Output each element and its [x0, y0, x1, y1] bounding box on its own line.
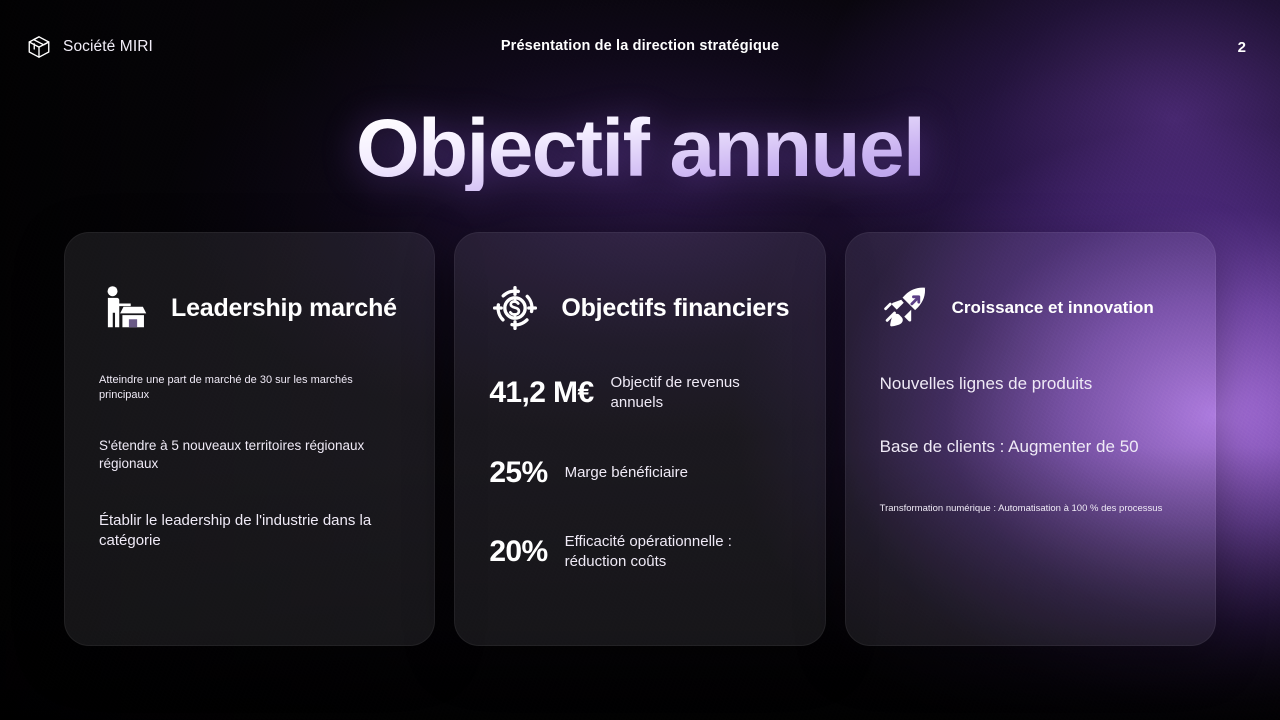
card-header: Croissance et innovation [880, 275, 1181, 341]
card-header: Leadership marché [99, 275, 400, 341]
list-item: Atteindre une part de marché de 30 sur l… [99, 373, 400, 403]
page-title: Objectif annuel [356, 107, 924, 191]
list-item: Nouvelles lignes de produits [880, 373, 1181, 396]
page-number: 2 [1238, 39, 1254, 56]
stat-item: 41,2 M€ Objectif de revenus annuels [489, 373, 790, 412]
stat-value: 20% [489, 535, 547, 569]
stat-item: 20% Efficacité opérationnelle : réductio… [489, 532, 790, 571]
deck-title: Présentation de la direction stratégique [0, 38, 1280, 54]
list-item-label: Atteindre une part de marché de 30 sur l… [99, 373, 400, 403]
stat-label: Marge bénéficiaire [565, 463, 688, 483]
card-header: Objectifs financiers [489, 275, 790, 341]
card-body: 41,2 M€ Objectif de revenus annuels 25% … [489, 373, 790, 615]
market-vendor-icon [99, 282, 151, 334]
card-title: Leadership marché [171, 294, 397, 322]
card-title: Objectifs financiers [561, 294, 789, 322]
list-item: Base de clients : Augmenter de 50 [880, 436, 1181, 459]
card-objectifs-financiers: Objectifs financiers 41,2 M€ Objectif de… [454, 232, 825, 646]
card-body: Atteindre une part de marché de 30 sur l… [99, 373, 400, 615]
target-dollar-icon [489, 282, 541, 334]
card-croissance-innovation: Croissance et innovation Nouvelles ligne… [845, 232, 1216, 646]
list-item: Transformation numérique : Automatisatio… [880, 503, 1181, 516]
list-item-label: Transformation numérique : Automatisatio… [880, 503, 1163, 516]
list-item: Établir le leadership de l'industrie dan… [99, 511, 400, 552]
slide: Société MIRI Présentation de la directio… [0, 0, 1280, 720]
stat-item: 25% Marge bénéficiaire [489, 456, 790, 490]
stat-label: Efficacité opérationnelle : réduction co… [565, 532, 791, 571]
list-item-label: Établir le leadership de l'industrie dan… [99, 511, 400, 552]
card-title: Croissance et innovation [952, 298, 1154, 317]
list-item-label: Base de clients : Augmenter de 50 [880, 436, 1139, 459]
card-body: Nouvelles lignes de produits Base de cli… [880, 373, 1181, 615]
slide-header: Société MIRI Présentation de la directio… [0, 0, 1280, 94]
rocket-growth-icon [880, 282, 932, 334]
hero: Objectif annuel [0, 107, 1280, 191]
card-leadership-marche: Leadership marché Atteindre une part de … [64, 232, 435, 646]
stat-value: 41,2 M€ [489, 376, 593, 410]
list-item-label: Nouvelles lignes de produits [880, 373, 1093, 396]
list-item-label: S'étendre à 5 nouveaux territoires régio… [99, 437, 400, 473]
cards-row: Leadership marché Atteindre une part de … [64, 232, 1216, 646]
stat-label: Objectif de revenus annuels [611, 373, 791, 412]
list-item: S'étendre à 5 nouveaux territoires régio… [99, 437, 400, 473]
stat-value: 25% [489, 456, 547, 490]
